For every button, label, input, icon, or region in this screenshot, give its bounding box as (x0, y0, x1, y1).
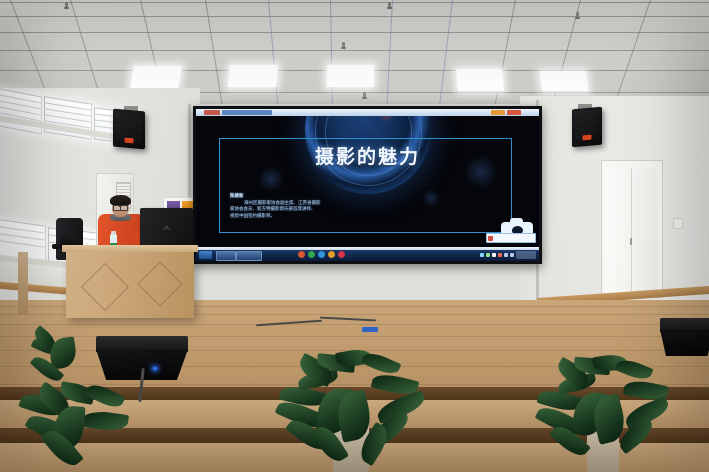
input-method-icon[interactable] (504, 253, 508, 257)
titlebar-tab[interactable] (204, 110, 220, 115)
display-screen[interactable]: 摄影的魅力 陈继新 海州区摄影家协会副主席、江苏省摄影 家协会会员、新方特摄影俱… (196, 109, 539, 261)
podium-side-panel (18, 252, 28, 314)
taskbar-app-icon[interactable] (338, 251, 345, 258)
presenter-glasses (113, 205, 128, 209)
podium-top-surface (62, 245, 198, 252)
bio-line-3: 视觉中国签约摄影师。 (230, 214, 415, 220)
powerpoint-slide: 摄影的魅力 陈继新 海州区摄影家协会副主席、江苏省摄影 家协会会员、新方特摄影俱… (196, 116, 539, 247)
screenshot-scene: 摄影的魅力 陈继新 海州区摄影家协会副主席、江苏省摄影 家协会会员、新方特摄影俱… (0, 0, 709, 472)
ceiling-light-panel (130, 66, 181, 88)
wall-light-switch[interactable] (673, 218, 683, 229)
laptop-logo (162, 225, 171, 231)
presenter-name: 陈继新 (230, 194, 244, 200)
jbl-logo (583, 135, 592, 141)
taskbar-clock[interactable] (516, 251, 536, 259)
presenter-bio: 海州区摄影家协会副主席、江苏省摄影 家协会会员、新方特摄影俱乐部首席讲师、 视觉… (230, 201, 415, 220)
taskbar-button[interactable] (236, 251, 262, 261)
taskbar-app-icon[interactable] (318, 251, 325, 258)
potted-plant-podium (28, 324, 78, 394)
chair-armrest (52, 244, 60, 249)
usb-icon[interactable] (498, 253, 502, 257)
jbl-logo (125, 138, 134, 144)
wooden-podium (66, 250, 194, 318)
wall-speaker-right (572, 107, 602, 148)
titlebar-tab[interactable] (491, 110, 505, 115)
titlebar-tab[interactable] (222, 110, 272, 115)
alert-icon (488, 236, 493, 241)
taskbar-app-icon[interactable] (308, 251, 315, 258)
podium-diamond-inlay (81, 263, 129, 311)
sprinkler-head (363, 92, 366, 99)
volume-icon[interactable] (486, 253, 490, 257)
tray-icon[interactable] (510, 253, 514, 257)
ceiling-light-panel (327, 65, 374, 87)
shield-icon[interactable] (492, 253, 496, 257)
wall-speaker-left (113, 109, 145, 150)
windows-taskbar[interactable] (196, 247, 539, 261)
taskbar-app-icon[interactable] (298, 251, 305, 258)
potted-plant-center (276, 330, 426, 472)
taskbar-button[interactable] (216, 251, 236, 261)
potted-plant-right (536, 332, 670, 472)
double-door-right[interactable] (605, 168, 657, 296)
podium-diamond-inlay (137, 261, 182, 306)
ceiling-light-panel (228, 65, 278, 87)
led-display-wall: 摄影的魅力 陈继新 海州区摄影家协会副主席、江苏省摄影 家协会会员、新方特摄影俱… (193, 106, 542, 264)
sprinkler-head (65, 2, 68, 9)
sprinkler-head (576, 12, 579, 19)
ceiling-light-panel (540, 71, 589, 91)
notification-toast[interactable] (486, 233, 536, 243)
network-icon[interactable] (480, 253, 484, 257)
ceiling-light-panel (456, 69, 504, 91)
sprinkler-head (388, 2, 391, 9)
slide-title: 摄影的魅力 (196, 146, 539, 168)
taskbar-app-icon[interactable] (328, 251, 335, 258)
system-tray[interactable] (480, 251, 536, 259)
titlebar-tab[interactable] (507, 110, 521, 115)
door-handle[interactable] (630, 238, 632, 245)
start-button[interactable] (199, 251, 212, 259)
monitor-led-indicator (153, 367, 157, 370)
sprinkler-head (342, 42, 345, 49)
